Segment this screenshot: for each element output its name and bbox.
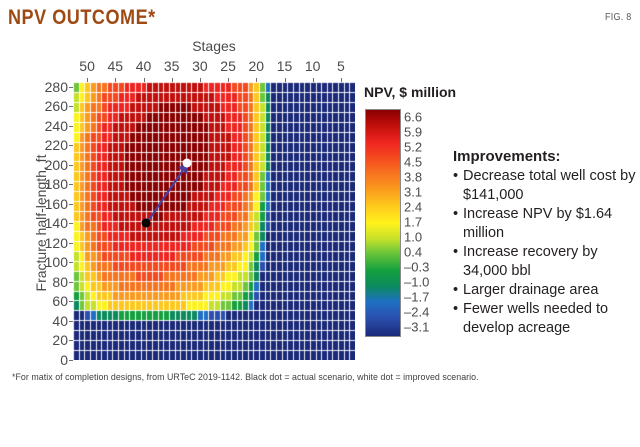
y-tick-160: 160	[45, 196, 68, 212]
y-tick-120: 120	[45, 235, 68, 251]
improvement-text: Fewer wells needed to develop acreage	[463, 301, 608, 336]
x-tick-50: 50	[79, 58, 95, 74]
y-tickmark	[69, 340, 73, 341]
y-tickmark	[69, 165, 73, 166]
x-axis-title: Stages	[73, 38, 355, 54]
x-tickmark	[144, 78, 145, 82]
bullet-icon: •	[453, 243, 458, 262]
x-tick-25: 25	[220, 58, 236, 74]
y-tickmark	[69, 204, 73, 205]
y-tick-200: 200	[45, 157, 68, 173]
improvement-text: Increase recovery by 34,000 bbl	[463, 244, 598, 279]
actual-scenario-dot	[142, 219, 151, 228]
y-tick-260: 260	[45, 98, 68, 114]
bullet-icon: •	[453, 300, 458, 319]
improved-scenario-dot	[183, 158, 192, 167]
y-tickmark	[69, 126, 73, 127]
footnote: *For matix of completion designs, from U…	[12, 372, 479, 383]
x-tickmark	[115, 78, 116, 82]
colorbar-tick: 4.5	[404, 154, 422, 169]
y-tickmark	[69, 106, 73, 107]
y-tick-100: 100	[45, 254, 68, 270]
y-tickmark	[69, 262, 73, 263]
x-tick-35: 35	[164, 58, 180, 74]
y-tick-0: 0	[60, 352, 68, 368]
improvements-list: •Decrease total well cost by $141,000•In…	[453, 167, 637, 338]
bullet-icon: •	[453, 167, 458, 186]
x-tickmark	[200, 78, 201, 82]
improvement-text: Larger drainage area	[463, 282, 598, 298]
improvement-item: •Larger drainage area	[453, 281, 637, 300]
colorbar-gradient	[365, 109, 401, 337]
improvement-item: •Increase NPV by $1.64 million	[453, 205, 637, 243]
colorbar-tick-labels: 6.65.95.24.53.83.12.41.71.00.4–0.3–1.0–1…	[404, 109, 444, 335]
y-tickmark	[69, 243, 73, 244]
colorbar-tick: 6.6	[404, 109, 422, 124]
y-tickmark	[69, 87, 73, 88]
colorbar-tick: –0.3	[404, 260, 429, 275]
colorbar-tick: 1.0	[404, 230, 422, 245]
colorbar-tick: –2.4	[404, 305, 429, 320]
y-axis-tick-labels: 280260240220200180160140120100806040200	[20, 82, 68, 360]
y-tick-280: 280	[45, 79, 68, 95]
y-tickmark	[69, 321, 73, 322]
x-tick-20: 20	[249, 58, 265, 74]
x-tickmark	[256, 78, 257, 82]
improvement-text: Increase NPV by $1.64 million	[463, 206, 612, 241]
y-tick-20: 20	[52, 332, 68, 348]
x-tickmark	[285, 78, 286, 82]
colorbar-tick: 3.8	[404, 169, 422, 184]
x-tickmark	[341, 78, 342, 82]
x-tickmark	[172, 78, 173, 82]
colorbar-tick: 2.4	[404, 199, 422, 214]
improvement-arrow	[73, 82, 355, 360]
x-tick-45: 45	[108, 58, 124, 74]
colorbar-tick: –1.7	[404, 290, 429, 305]
figure-container: NPV OUTCOME* FIG. 8 Stages Fracture half…	[0, 0, 640, 447]
page-title: NPV OUTCOME*	[8, 6, 156, 30]
y-tick-220: 220	[45, 137, 68, 153]
y-tick-60: 60	[52, 293, 68, 309]
bullet-icon: •	[453, 281, 458, 300]
x-tickmark	[87, 78, 88, 82]
heatmap-plot-area	[73, 82, 355, 360]
x-tickmark	[228, 78, 229, 82]
colorbar-title: NPV, $ million	[364, 84, 456, 100]
x-tick-5: 5	[337, 58, 345, 74]
improvement-text: Decrease total well cost by $141,000	[463, 168, 635, 203]
y-tickmark	[69, 282, 73, 283]
x-tick-30: 30	[192, 58, 208, 74]
improvement-item: •Increase recovery by 34,000 bbl	[453, 243, 637, 281]
bullet-icon: •	[453, 205, 458, 224]
improvements-heading: Improvements:	[453, 148, 637, 165]
y-tickmark	[69, 301, 73, 302]
colorbar-tick: 3.1	[404, 184, 422, 199]
y-tickmark	[69, 360, 73, 361]
x-axis-tick-labels: 5045403530252015105	[73, 58, 355, 76]
colorbar-tick: –1.0	[404, 275, 429, 290]
y-tick-180: 180	[45, 176, 68, 192]
improvement-item: •Fewer wells needed to develop acreage	[453, 300, 637, 338]
y-tick-80: 80	[52, 274, 68, 290]
y-tick-40: 40	[52, 313, 68, 329]
y-tickmark	[69, 145, 73, 146]
colorbar-tick: 5.2	[404, 139, 422, 154]
figure-number-label: FIG. 8	[605, 12, 632, 23]
improvement-item: •Decrease total well cost by $141,000	[453, 167, 637, 205]
colorbar-tick: 1.7	[404, 215, 422, 230]
colorbar-tick: –3.1	[404, 320, 429, 335]
y-tick-240: 240	[45, 118, 68, 134]
y-tickmark	[69, 223, 73, 224]
x-tick-10: 10	[305, 58, 321, 74]
colorbar-tick: 5.9	[404, 124, 422, 139]
x-tick-15: 15	[277, 58, 293, 74]
improvements-panel: Improvements: •Decrease total well cost …	[453, 148, 637, 338]
x-tickmark	[313, 78, 314, 82]
y-tickmark	[69, 184, 73, 185]
colorbar-tick: 0.4	[404, 245, 422, 260]
x-tick-40: 40	[136, 58, 152, 74]
y-tick-140: 140	[45, 215, 68, 231]
